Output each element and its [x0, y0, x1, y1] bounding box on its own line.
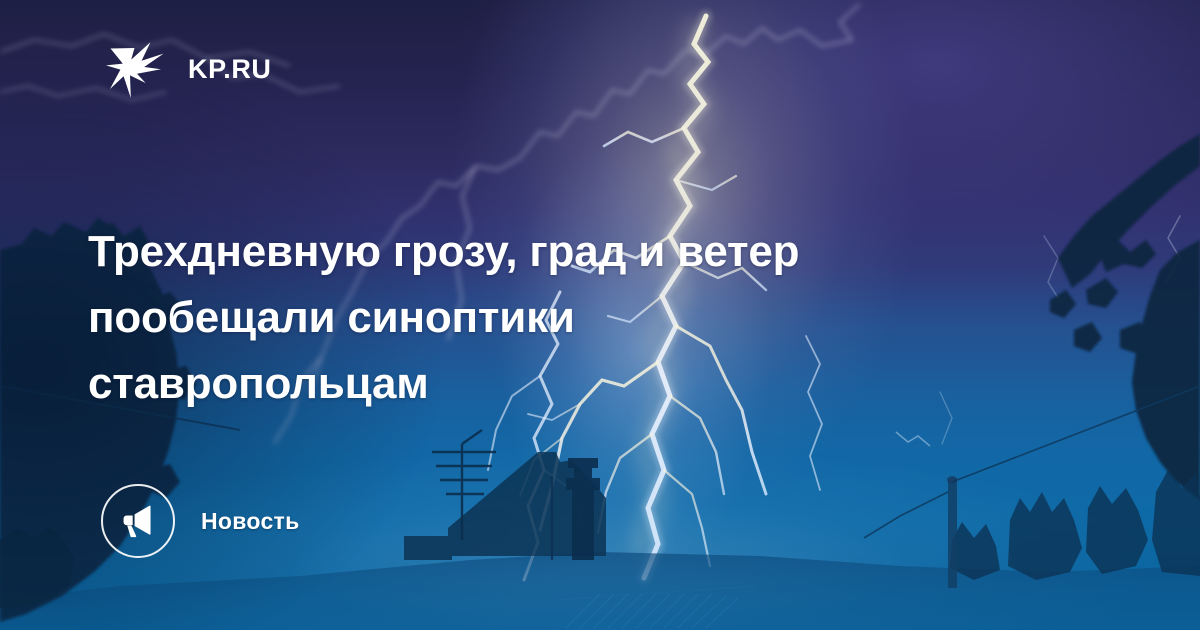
news-share-card: KP.RU Трехдневную грозу, град и ветер по… — [0, 0, 1200, 630]
brand-logo[interactable]: KP.RU — [104, 36, 272, 102]
headline-line-3: ставропольцам — [88, 351, 1068, 417]
headline: Трехдневную грозу, град и ветер пообещал… — [88, 219, 1068, 417]
badge-label: Новость — [201, 508, 300, 535]
megaphone-icon — [119, 502, 157, 540]
megaphone-icon-circle — [101, 484, 175, 558]
headline-line-1: Трехдневную грозу, град и ветер — [88, 219, 1068, 285]
headline-line-2: пообещали синоптики — [88, 285, 1068, 351]
content-type-badge[interactable]: Новость — [101, 484, 300, 558]
brand-name: KP.RU — [188, 56, 272, 83]
swallow-bird-icon — [104, 36, 170, 102]
